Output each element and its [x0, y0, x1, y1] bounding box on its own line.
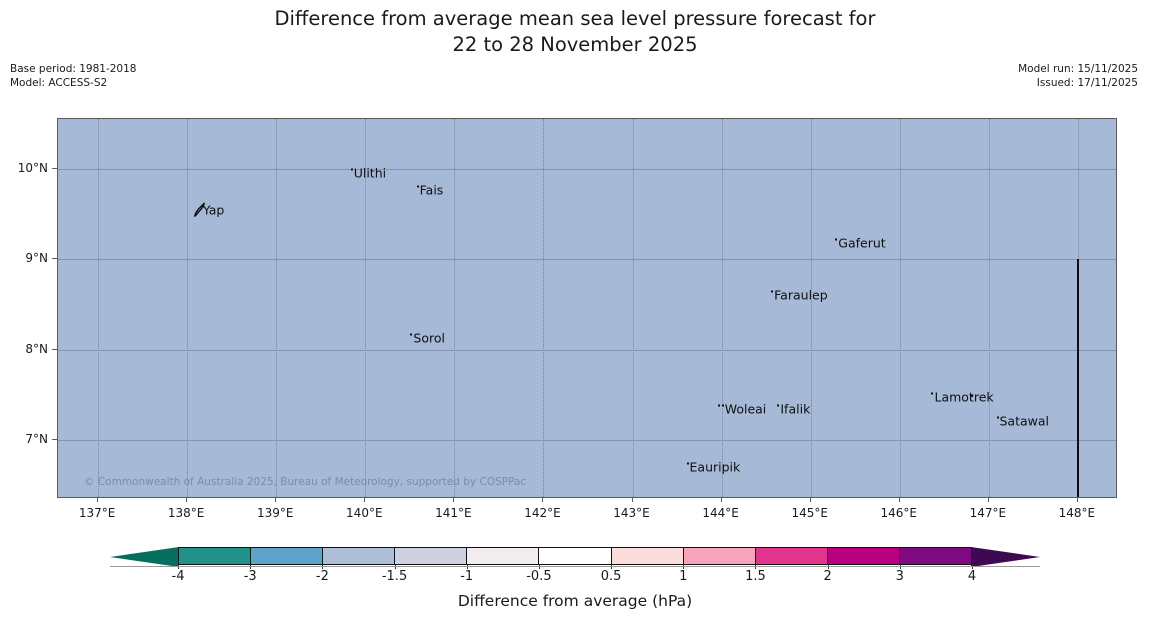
colorbar-segment-4 [467, 548, 539, 564]
map-place-label-faraulep: Faraulep [771, 287, 828, 302]
x-tick-label: 144°E [702, 506, 739, 520]
colorbar-segment-2 [323, 548, 395, 564]
boundary-line-148E [1077, 259, 1079, 498]
x-tickmark [186, 498, 187, 502]
colorbar-segment-9 [828, 548, 900, 564]
x-tickmark [721, 498, 722, 502]
x-tick-label: 147°E [970, 506, 1007, 520]
x-tick-label: 148°E [1059, 506, 1096, 520]
place-marker-icon [835, 238, 837, 240]
place-marker-icon [687, 463, 689, 465]
place-name: Eauripik [690, 460, 741, 475]
map-place-label-eauripik: Eauripik [687, 460, 741, 475]
y-tick-label: 7°N [25, 432, 48, 446]
map-place-label-ifalik: Ifalik [777, 401, 810, 416]
gridline-parallel [58, 169, 1116, 170]
model-run-meta: Model run: 15/11/2025 Issued: 17/11/2025 [1018, 63, 1138, 90]
colorbar-tick-label: 4 [968, 569, 976, 584]
colorbar-segments[interactable] [178, 547, 972, 565]
place-marker-icon [351, 169, 353, 171]
place-name: Gaferut [838, 235, 885, 250]
colorbar-segment-6 [612, 548, 684, 564]
place-name: Sorol [413, 330, 445, 345]
colorbar-tick-label: 1.5 [745, 569, 766, 584]
x-tickmark [275, 498, 276, 502]
x-tickmark [1077, 498, 1078, 502]
copyright-text: © Commonwealth of Australia 2025, Bureau… [84, 476, 526, 488]
map-place-label-ulithi: Ulithi [351, 166, 386, 181]
colorbar-tick-label: -1 [460, 569, 473, 584]
x-tick-label: 143°E [613, 506, 650, 520]
colorbar-segment-7 [684, 548, 756, 564]
colorbar-segment-3 [395, 548, 467, 564]
place-marker-icon [997, 417, 999, 419]
colorbar-tick-label: 2 [823, 569, 831, 584]
y-tickmark [52, 439, 57, 440]
forecast-map-figure: Difference from average mean sea level p… [0, 0, 1150, 644]
y-tickmark [52, 168, 57, 169]
place-marker-icon [410, 333, 412, 335]
colorbar-tick-label: 0.5 [601, 569, 622, 584]
map-place-label-yap: Yap [203, 203, 225, 218]
x-tick-label: 145°E [791, 506, 828, 520]
colorbar-tick-label: 3 [896, 569, 904, 584]
map-place-label-satawal: Satawal [997, 414, 1050, 429]
y-tick-label: 10°N [18, 161, 48, 175]
place-name: Faraulep [774, 287, 828, 302]
x-tickmark [899, 498, 900, 502]
unlabelled-islet-marker [971, 395, 973, 397]
x-tickmark [453, 498, 454, 502]
colorbar-tick-label: -4 [172, 569, 185, 584]
x-tick-label: 138°E [168, 506, 205, 520]
x-tickmark [97, 498, 98, 502]
place-marker-icon [718, 404, 724, 407]
map-place-label-fais: Fais [417, 182, 444, 197]
x-tick-label: 139°E [257, 506, 294, 520]
base-period-meta: Base period: 1981-2018 Model: ACCESS-S2 [10, 63, 136, 90]
place-name: Ulithi [354, 166, 386, 181]
colorbar-over-cap [971, 547, 1040, 567]
map-place-label-gaferut: Gaferut [835, 235, 885, 250]
y-tick-label: 8°N [25, 342, 48, 356]
y-tickmark [52, 349, 57, 350]
colorbar-segment-0 [179, 548, 251, 564]
x-tick-label: 137°E [79, 506, 116, 520]
x-tick-label: 146°E [881, 506, 918, 520]
place-name: Lamotrek [934, 389, 993, 404]
place-name: Fais [420, 182, 444, 197]
colorbar-baseline [110, 566, 1040, 567]
x-tickmark [542, 498, 543, 502]
map-place-label-woleai: Woleai [718, 401, 767, 416]
map-place-label-lamotrek: Lamotrek [931, 389, 993, 404]
colorbar-segment-1 [251, 548, 323, 564]
y-tick-label: 9°N [25, 251, 48, 265]
place-name: Yap [203, 203, 225, 218]
place-name: Ifalik [780, 401, 810, 416]
x-tickmark [364, 498, 365, 502]
colorbar-tick-label: 1 [679, 569, 687, 584]
colorbar-tick-label: -1.5 [382, 569, 407, 584]
place-name: Woleai [725, 401, 767, 416]
x-tick-label: 141°E [435, 506, 472, 520]
colorbar-title: Difference from average (hPa) [0, 592, 1150, 610]
colorbar-segment-5 [539, 548, 611, 564]
x-tick-label: 142°E [524, 506, 561, 520]
place-marker-icon [417, 185, 419, 187]
gridline-parallel [58, 440, 1116, 441]
x-tickmark [632, 498, 633, 502]
place-marker-icon [771, 290, 773, 292]
gridline-parallel [58, 259, 1116, 260]
colorbar-tick-label: -2 [316, 569, 329, 584]
colorbar-tick-label: -3 [244, 569, 257, 584]
colorbar-segment-10 [900, 548, 971, 564]
x-tickmark [988, 498, 989, 502]
map-place-label-sorol: Sorol [410, 330, 445, 345]
place-marker-icon [777, 404, 779, 406]
gridline-parallel [58, 350, 1116, 351]
place-marker-icon [931, 392, 933, 394]
y-tickmark [52, 258, 57, 259]
page-title: Difference from average mean sea level p… [0, 6, 1150, 58]
colorbar-tick-label: -0.5 [526, 569, 551, 584]
place-name: Satawal [1000, 414, 1050, 429]
colorbar-segment-8 [756, 548, 828, 564]
colorbar-under-cap [110, 547, 179, 567]
x-tick-label: 140°E [346, 506, 383, 520]
map-panel[interactable]: © Commonwealth of Australia 2025, Bureau… [57, 118, 1117, 498]
x-tickmark [810, 498, 811, 502]
colorbar[interactable]: -4-3-2-1.5-1-0.50.511.5234 [110, 545, 1040, 567]
